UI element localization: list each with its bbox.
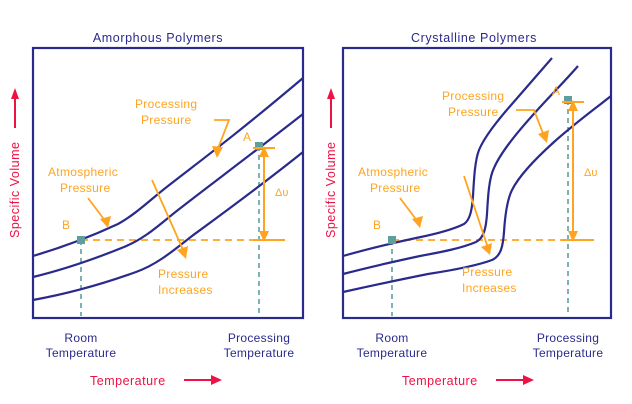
label-delta-v: Δυ [584, 167, 597, 179]
tick-room-line1: Room [64, 331, 97, 345]
curve-intermediate-pressure [33, 114, 303, 277]
chart-panel-crystalline: Crystalline Polymers Specific Volume B A [316, 0, 632, 404]
chart-title-amorphous: Amorphous Polymers [93, 31, 223, 45]
x-tick-labels: Room Temperature Processing Temperature [357, 331, 604, 360]
y-axis-arrow-head [11, 88, 19, 99]
annotation-processing-pressure-line1: Processing [135, 97, 197, 111]
marker-point-b [388, 236, 396, 244]
tick-processing-line1: Processing [228, 331, 290, 345]
annotation-processing-pressure-line2: Pressure [448, 105, 498, 119]
x-axis-group-left: Temperature [90, 374, 222, 388]
annotation-atmospheric-pressure-arrowhead [100, 216, 111, 228]
amorphous-svg: Amorphous Polymers Specific Volume [0, 0, 316, 404]
annotation-atmospheric-pressure: Atmospheric Pressure [358, 165, 428, 228]
annotation-processing-pressure-leader [516, 110, 544, 136]
x-axis-arrow-head [211, 375, 222, 385]
x-axis-label: Temperature [90, 374, 166, 388]
annotation-pressure-increases-leader [464, 176, 488, 248]
annotation-processing-pressure-line2: Pressure [141, 113, 191, 127]
tick-room-line2: Temperature [357, 346, 428, 360]
x-tick-labels: Room Temperature Processing Temperature [46, 331, 295, 360]
marker-point-b [77, 236, 85, 244]
figure-root: Amorphous Polymers Specific Volume [0, 0, 632, 404]
annotation-atmospheric-pressure-line1: Atmospheric [48, 165, 118, 179]
label-delta-v: Δυ [275, 187, 288, 199]
annotation-pressure-increases-leader [152, 180, 184, 252]
x-axis-arrow-head [523, 375, 534, 385]
chart-title-crystalline: Crystalline Polymers [411, 31, 537, 45]
tick-processing-line2: Temperature [533, 346, 604, 360]
y-axis-arrow-head [327, 88, 335, 99]
annotation-processing-pressure-line1: Processing [442, 89, 504, 103]
annotation-pressure-increases: Pressure Increases [152, 180, 213, 297]
y-axis-label: Specific Volume [8, 142, 22, 238]
annotation-atmospheric-pressure: Atmospheric Pressure [48, 165, 118, 228]
y-axis-label: Specific Volume [324, 142, 338, 238]
tick-room-line2: Temperature [46, 346, 117, 360]
label-point-b: B [62, 218, 70, 232]
label-point-b: B [373, 218, 381, 232]
label-point-a: A [243, 130, 251, 144]
annotation-pressure-increases-line2: Increases [462, 281, 517, 295]
tick-processing-line2: Temperature [224, 346, 295, 360]
x-axis-group-right: Temperature [402, 374, 534, 388]
tick-room-line1: Room [375, 331, 408, 345]
label-point-a: A [552, 84, 560, 98]
y-axis-group-left: Specific Volume [8, 88, 22, 238]
annotation-processing-pressure: Processing Pressure [135, 97, 229, 158]
annotation-atmospheric-pressure-line1: Atmospheric [358, 165, 428, 179]
y-axis-group-right: Specific Volume [324, 88, 338, 238]
chart-panel-amorphous: Amorphous Polymers Specific Volume [0, 0, 316, 404]
annotation-processing-pressure-arrowhead [538, 130, 549, 143]
x-axis-label: Temperature [402, 374, 478, 388]
tick-processing-line1: Processing [537, 331, 599, 345]
annotation-atmospheric-pressure-line2: Pressure [370, 181, 420, 195]
annotation-atmospheric-pressure-arrowhead [412, 216, 423, 228]
annotation-pressure-increases-line2: Increases [158, 283, 213, 297]
annotation-pressure-increases-line1: Pressure [462, 265, 512, 279]
annotation-processing-pressure-leader [214, 120, 229, 151]
annotation-pressure-increases-line1: Pressure [158, 267, 208, 281]
crystalline-svg: Crystalline Polymers Specific Volume B A [316, 0, 632, 404]
annotation-atmospheric-pressure-line2: Pressure [60, 181, 110, 195]
